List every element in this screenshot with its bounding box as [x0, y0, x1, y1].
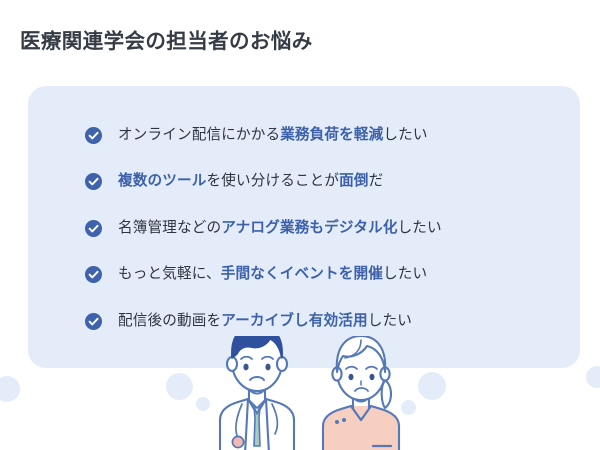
decorative-circle-edge-right: [586, 366, 600, 388]
plain-phrase: したい: [398, 220, 442, 236]
list-item-label: 名簿管理などのアナログ業務もデジタル化したい: [118, 219, 442, 238]
plain-phrase: したい: [383, 127, 427, 143]
plain-phrase: を使い分けることが: [206, 173, 339, 189]
highlighted-phrase: 複数のツール: [118, 173, 206, 189]
list-item-label: オンライン配信にかかる業務負荷を軽減したい: [118, 126, 428, 145]
highlighted-phrase: アナログ業務もデジタル化: [221, 220, 397, 236]
slide-root: 医療関連学会の担当者のお悩み オンライン配信にかかる業務負荷を軽減したい複数のツ…: [0, 0, 600, 450]
illustration-area: [0, 336, 600, 450]
check-circle-icon: [85, 127, 102, 144]
plain-phrase: だ: [369, 173, 384, 189]
plain-phrase: したい: [383, 266, 427, 282]
highlighted-phrase: アーカイブし有効活用: [221, 313, 368, 329]
plain-phrase: オンライン配信にかかる: [118, 127, 280, 143]
plain-phrase: 名簿管理などの: [118, 220, 221, 236]
check-circle-icon: [85, 266, 102, 283]
highlighted-phrase: 面倒: [339, 173, 369, 189]
list-item: 複数のツールを使い分けることが面倒だ: [85, 159, 555, 206]
highlighted-phrase: 業務負荷を軽減: [280, 127, 383, 143]
plain-phrase: したい: [368, 313, 412, 329]
decorative-circle-large-right: [418, 372, 446, 400]
female-nurse-illustration: [305, 336, 417, 450]
issues-list: オンライン配信にかかる業務負荷を軽減したい複数のツールを使い分けることが面倒だ名…: [85, 112, 555, 345]
page-title: 医療関連学会の担当者のお悩み: [20, 24, 313, 54]
plain-phrase: 配信後の動画を: [118, 313, 221, 329]
list-item-label: 配信後の動画をアーカイブし有効活用したい: [118, 312, 412, 331]
highlighted-phrase: 手間なくイベントを開催: [221, 266, 383, 282]
list-item-label: 複数のツールを使い分けることが面倒だ: [118, 172, 383, 191]
male-doctor-illustration: [196, 336, 318, 450]
plain-phrase: もっと気軽に、: [118, 266, 221, 282]
issues-card: オンライン配信にかかる業務負荷を軽減したい複数のツールを使い分けることが面倒だ名…: [28, 86, 580, 368]
list-item: 名簿管理などのアナログ業務もデジタル化したい: [85, 205, 555, 252]
list-item: オンライン配信にかかる業務負荷を軽減したい: [85, 112, 555, 159]
list-item: もっと気軽に、手間なくイベントを開催したい: [85, 252, 555, 299]
decorative-circle-large-left: [166, 373, 193, 400]
check-circle-icon: [85, 220, 102, 237]
check-circle-icon: [85, 313, 102, 330]
check-circle-icon: [85, 173, 102, 190]
decorative-circle-edge-left: [0, 376, 20, 402]
list-item-label: もっと気軽に、手間なくイベントを開催したい: [118, 265, 427, 284]
